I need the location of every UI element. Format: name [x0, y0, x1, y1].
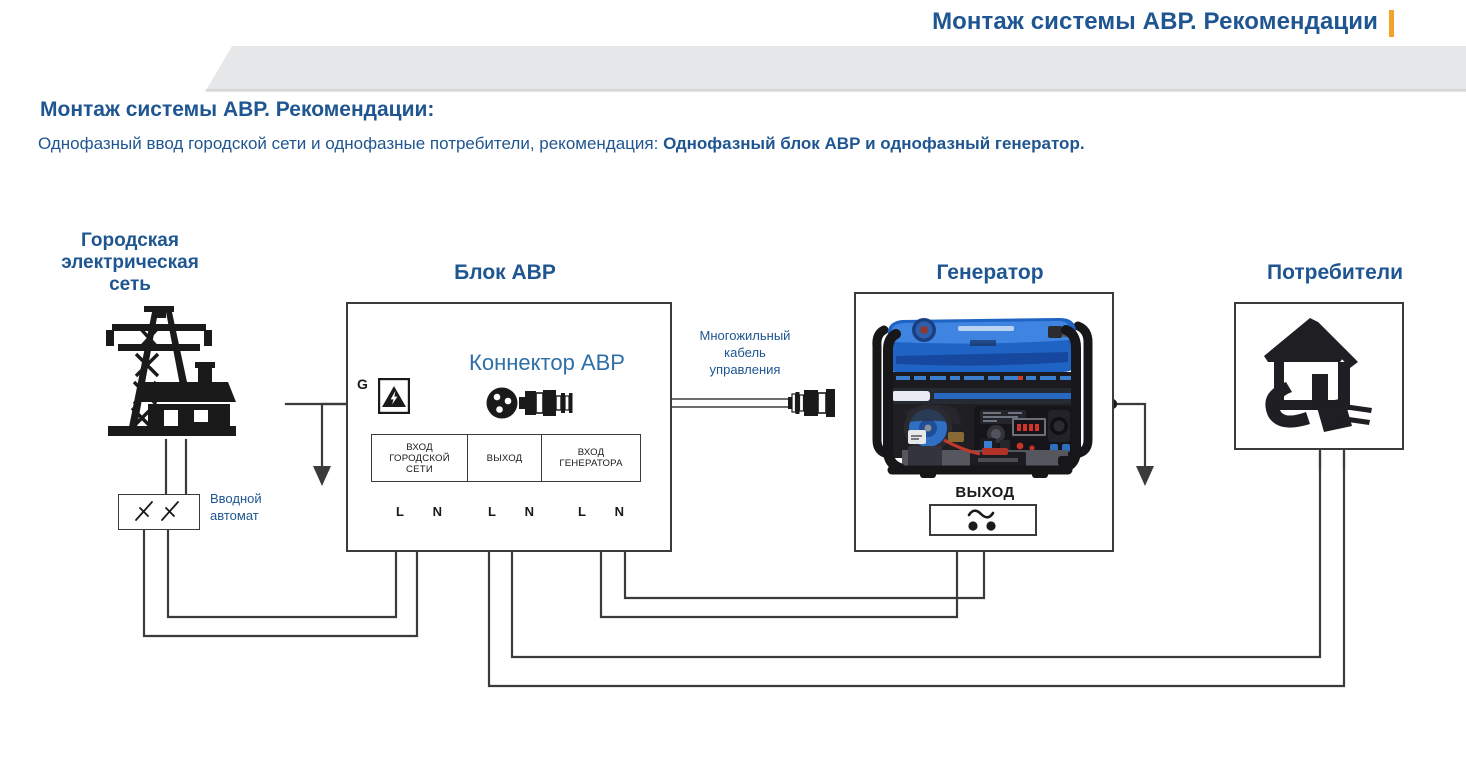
consumers-caption: Потребители: [1215, 262, 1455, 284]
abp-ground-arrow: [313, 466, 331, 486]
pin-labels-output: L N: [488, 504, 534, 519]
header-accent-bar: [1389, 10, 1394, 37]
ac-tilde-symbol: [929, 504, 1037, 536]
input-breaker-label: Вводной автомат: [210, 490, 320, 524]
high-voltage-warning-icon: [378, 378, 410, 414]
abp-connector-label: Коннектор АВР: [432, 350, 662, 376]
terminal-label-output: ВЫХОД: [468, 435, 542, 481]
header-title: Монтаж системы АВР. Рекомендации: [932, 8, 1378, 36]
generator-output-label: ВЫХОД: [925, 484, 1045, 501]
abp-block-caption: Блок АВР: [380, 262, 630, 284]
control-cable-generator-connector-icon: [786, 388, 840, 418]
abp-terminal-row: ВХОД ГОРОДСКОЙ СЕТИ ВЫХОД ВХОД ГЕНЕРАТОР…: [371, 434, 641, 482]
page-title: Монтаж системы АВР. Рекомендации:: [40, 98, 434, 122]
pin-labels-generator-input: L N: [578, 504, 624, 519]
power-tower-house-icon: [78, 300, 258, 470]
generator-caption: Генератор: [880, 262, 1100, 284]
header-band: [0, 46, 1466, 92]
terminal-label-generator-input: ВХОД ГЕНЕРАТОРА: [542, 435, 640, 481]
ground-terminal-label: G: [357, 376, 368, 392]
page-subtitle: Однофазный ввод городской сети и однофаз…: [38, 130, 1378, 157]
subtitle-bold: Однофазный блок АВР и однофазный генерат…: [663, 134, 1085, 153]
header-banner: [0, 46, 1466, 92]
control-cable-label: Многожильный кабель управления: [672, 327, 818, 378]
pin-labels-mains-input: L N: [396, 504, 442, 519]
generator-photo: [862, 300, 1106, 478]
slide-canvas: Монтаж системы АВР. Рекомендации Монтаж …: [0, 0, 1466, 780]
pin-label-l: L: [578, 504, 586, 519]
terminal-label-mains-input: ВХОД ГОРОДСКОЙ СЕТИ: [372, 435, 468, 481]
gen-ground-arrow: [1136, 466, 1154, 486]
pin-label-n: N: [615, 504, 624, 519]
circuit-breaker-symbol: [118, 494, 200, 530]
header-band-shadow: [205, 89, 1466, 92]
house-with-plug-icon: [1244, 312, 1394, 440]
pin-label-l: L: [396, 504, 404, 519]
pin-label-n: N: [525, 504, 534, 519]
pin-label-l: L: [488, 504, 496, 519]
pin-label-n: N: [433, 504, 442, 519]
subtitle-normal: Однофазный ввод городской сети и однофаз…: [38, 134, 663, 153]
generator-output-terminal-l: [968, 521, 977, 530]
round-3pin-connector-icon: [486, 386, 596, 420]
grid-caption: Городская электрическая сеть: [10, 230, 250, 296]
generator-output-terminal-n: [986, 521, 995, 530]
wire-gen-ground-stem: [1110, 404, 1145, 470]
